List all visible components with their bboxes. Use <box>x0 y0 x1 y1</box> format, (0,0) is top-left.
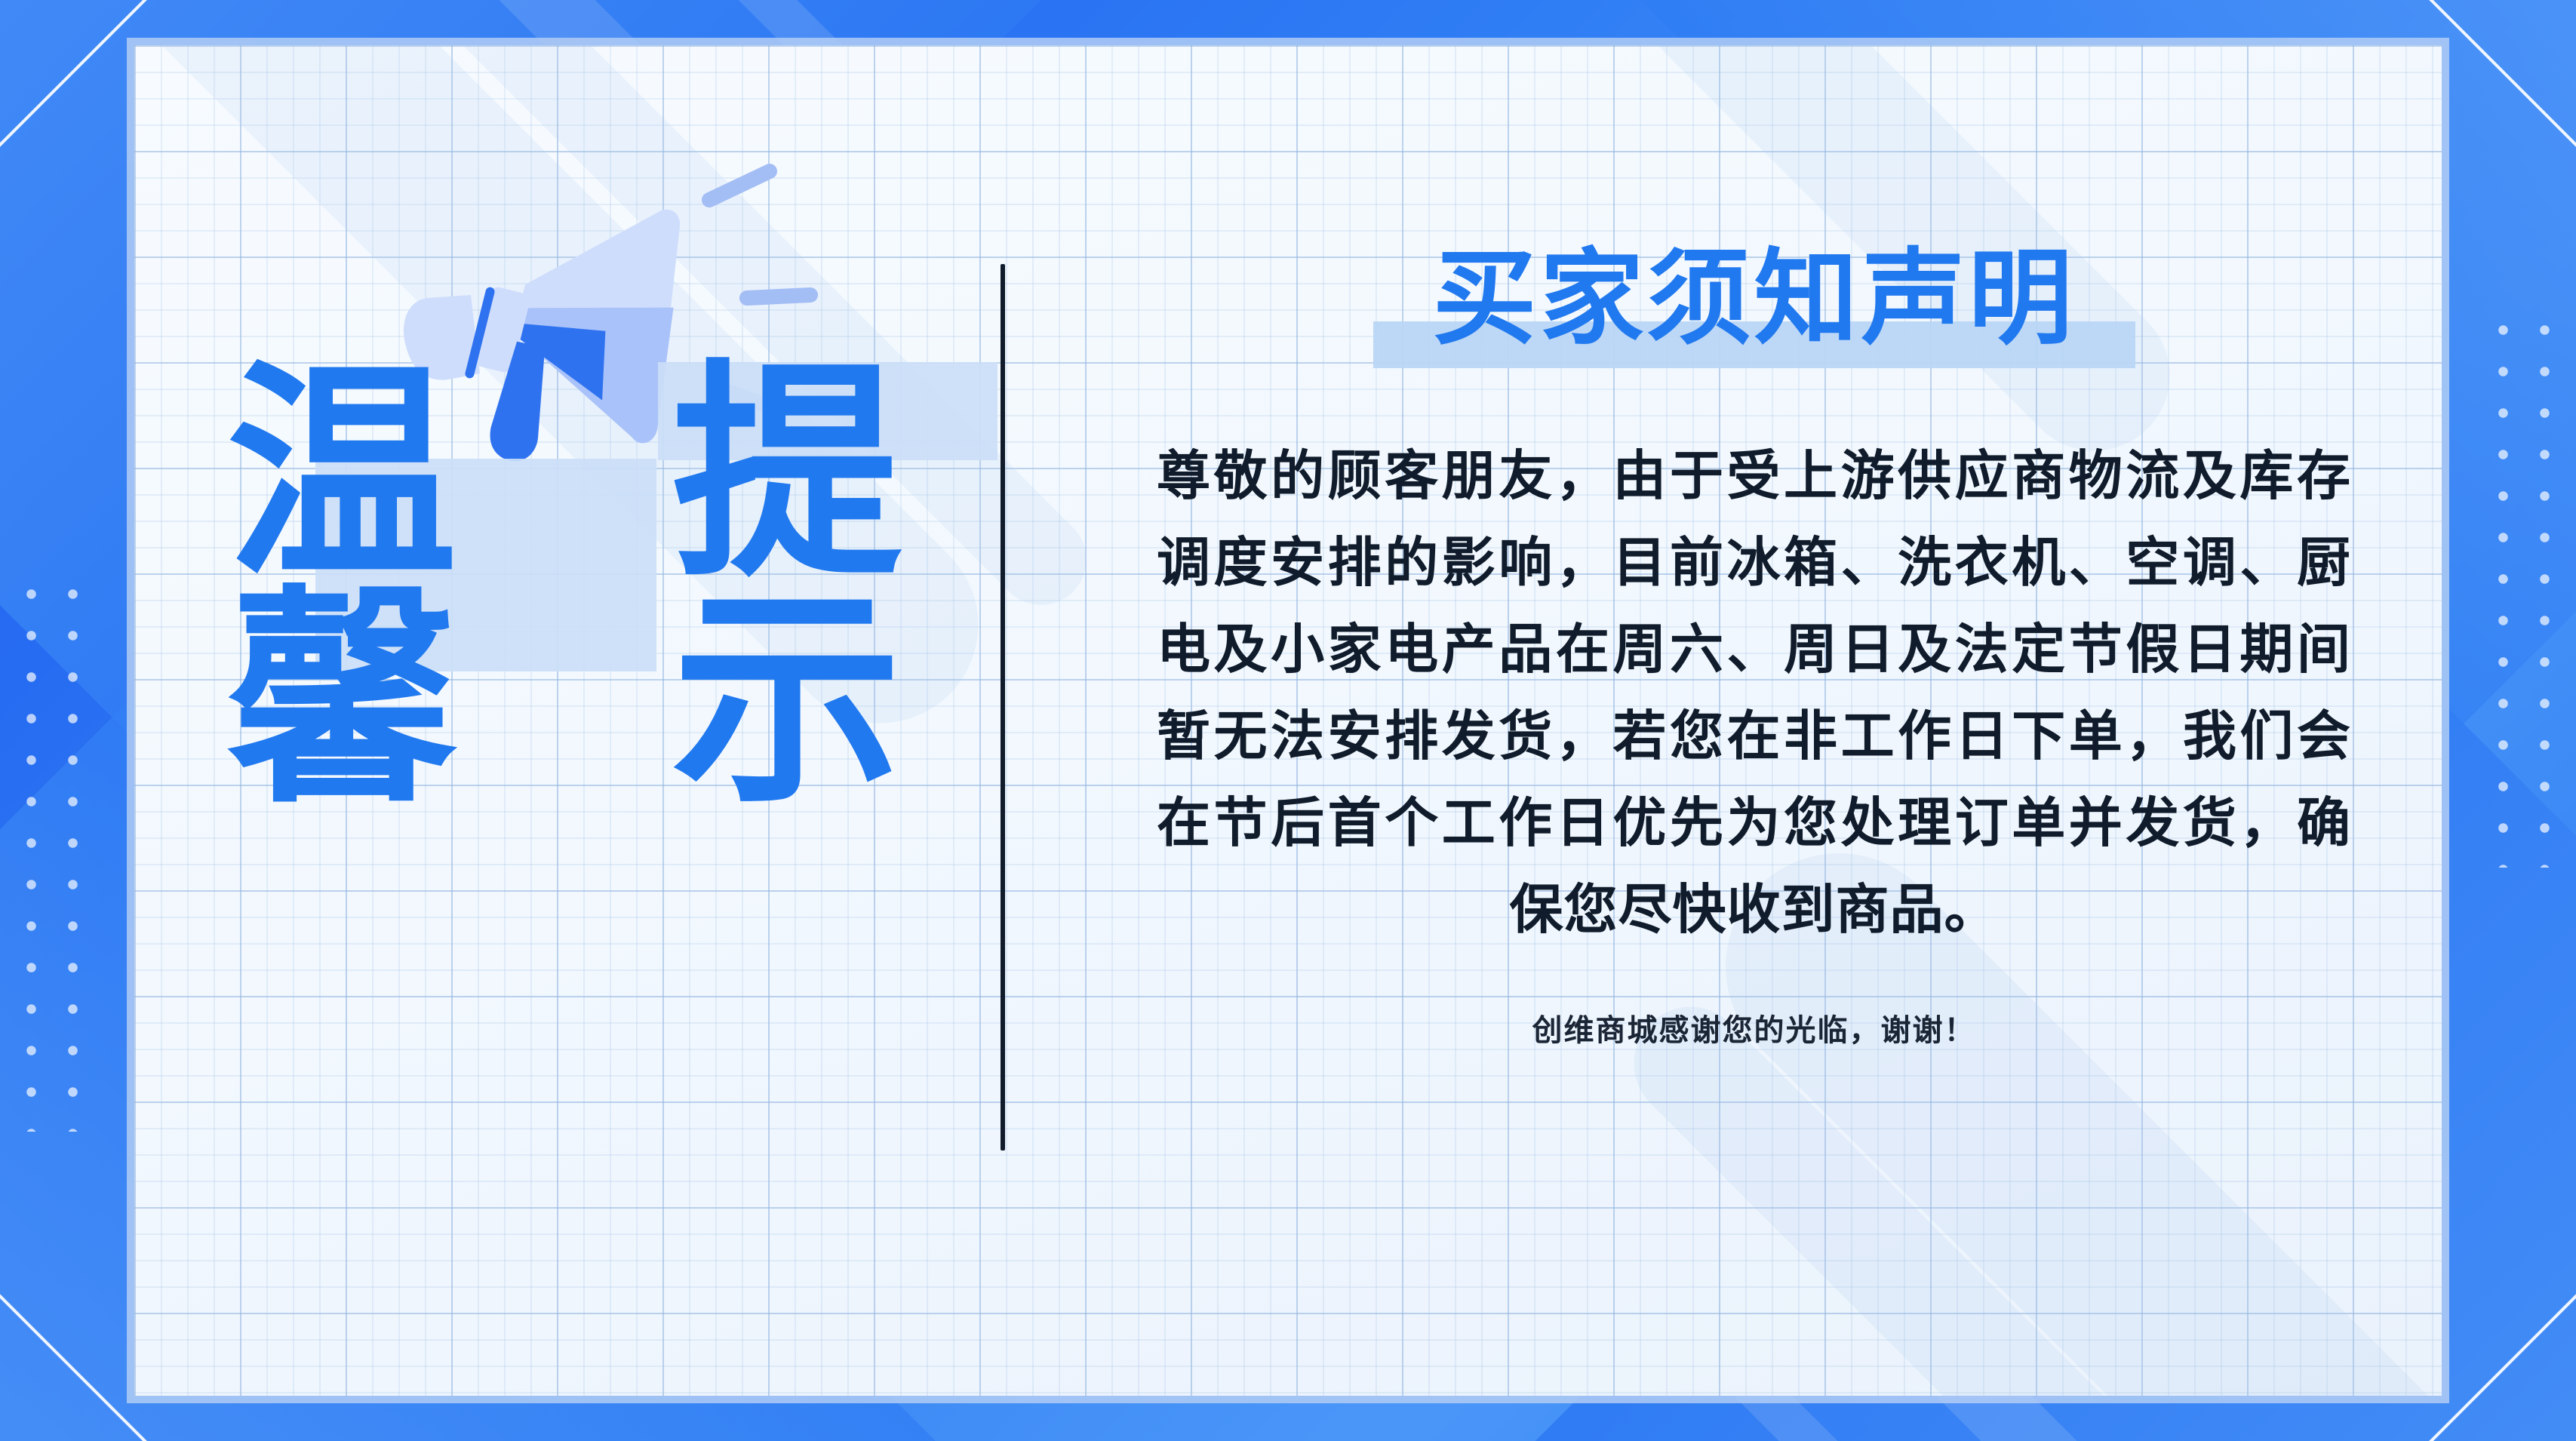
notice-poster: 温 提 馨 示 买家须知声明 尊敬的顾客朋友，由于受上游供应商物流及库存调度安排… <box>0 0 2576 1441</box>
headline-wenxin-tishi: 温 提 馨 示 <box>134 362 1010 813</box>
headline-char-4: 示 <box>564 588 1010 813</box>
grid-paper-card: 温 提 馨 示 买家须知声明 尊敬的顾客朋友，由于受上游供应商物流及库存调度安排… <box>134 45 2442 1396</box>
footer-thanks: 创维商城感谢您的光临，谢谢！ <box>1157 1006 2351 1049</box>
headline-char-2: 提 <box>564 362 1010 588</box>
title-block: 买家须知声明 <box>1157 234 2351 411</box>
wave-dash-middle <box>747 295 810 298</box>
headline-char-3: 馨 <box>134 588 564 813</box>
left-panel: 温 提 馨 示 <box>134 45 1002 1396</box>
headline-char-1: 温 <box>134 362 564 588</box>
right-panel: 买家须知声明 尊敬的顾客朋友，由于受上游供应商物流及库存调度安排的影响，目前冰箱… <box>1002 45 2442 1396</box>
dot-pattern-left <box>11 573 94 1132</box>
wave-dash-top <box>709 171 770 200</box>
notice-body: 尊敬的顾客朋友，由于受上游供应商物流及库存调度安排的影响，目前冰箱、洗衣机、空调… <box>1157 432 2351 953</box>
page-title: 买家须知声明 <box>1157 234 2351 364</box>
dot-pattern-right <box>2482 309 2565 868</box>
poster-content: 温 提 馨 示 买家须知声明 尊敬的顾客朋友，由于受上游供应商物流及库存调度安排… <box>134 45 2442 1396</box>
